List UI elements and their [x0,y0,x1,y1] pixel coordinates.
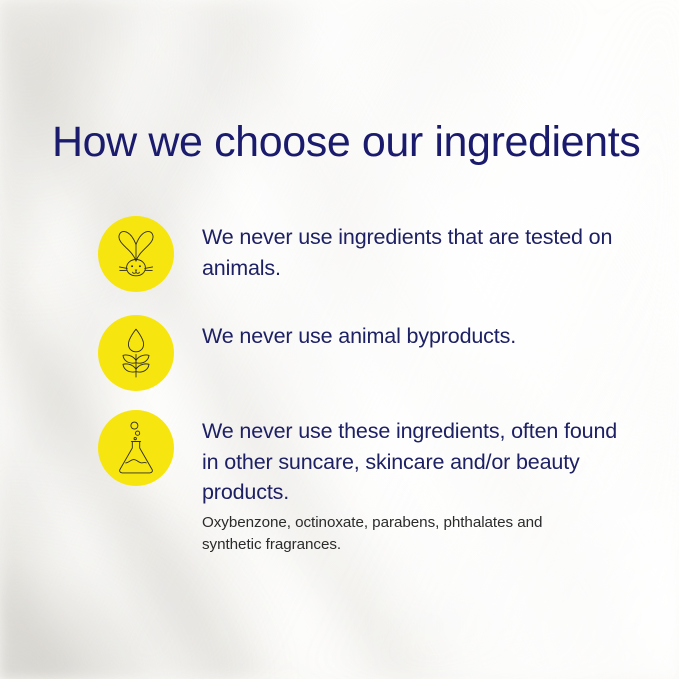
list-item: We never use animal byproducts. [98,315,516,391]
claim-icon-badge [98,216,174,292]
plant-droplet-icon [114,327,158,379]
promo-graphic-canvas: How we choose our ingredients [0,0,679,679]
claim-icon-badge [98,315,174,391]
flask-bubbles-icon [114,421,158,475]
claim-text: We never use these ingredients, often fo… [202,410,618,508]
claim-icon-badge [98,410,174,486]
ingredient-disclaimer: Oxybenzone, octinoxate, parabens, phthal… [202,512,572,557]
bunny-heart-ears-icon [112,228,160,280]
page-title: How we choose our ingredients [52,119,640,165]
list-item: We never use ingredients that are tested… [98,216,614,292]
list-item: We never use these ingredients, often fo… [98,410,618,508]
content-layer: How we choose our ingredients [0,0,679,679]
claim-text: We never use animal byproducts. [202,315,516,352]
claim-text: We never use ingredients that are tested… [202,216,614,283]
